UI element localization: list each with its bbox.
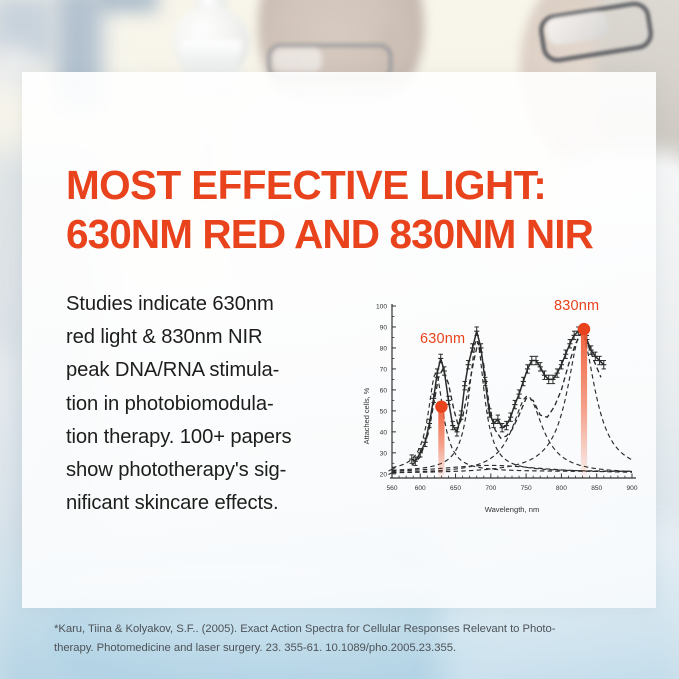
chart-x-tick-label: 650 — [450, 485, 461, 492]
annotation-label-830nm: 830nm — [554, 298, 599, 314]
annotation-stem-830nm — [581, 329, 587, 478]
chart-component-band — [392, 333, 632, 472]
body-paragraph: Studies indicate 630nm red light & 830nm… — [66, 288, 344, 520]
annotation-dot-630nm[interactable] — [435, 400, 447, 412]
page-title: MOST EFFECTIVE LIGHT: 630NM RED AND 830N… — [66, 161, 636, 259]
chart-y-tick-label: 100 — [376, 304, 387, 311]
infographic-poster: MOST EFFECTIVE LIGHT: 630NM RED AND 830N… — [0, 0, 679, 679]
body-line: tion therapy. 100+ papers — [66, 421, 344, 454]
chart-x-tick-label: 850 — [591, 485, 602, 492]
body-line: peak DNA/RNA stimula- — [66, 354, 344, 387]
chart-y-tick-label: 50 — [380, 408, 388, 415]
chart-svg: 2030405060708090100Attached cells, %5606… — [358, 292, 640, 522]
chart-y-tick-label: 70 — [380, 367, 388, 374]
annotation-label-630nm: 630nm — [420, 331, 465, 347]
background-equipment-c — [96, 0, 158, 12]
page-title-line-1: MOST EFFECTIVE LIGHT: — [66, 161, 636, 210]
chart-x-tick-label: 750 — [521, 485, 532, 492]
chart-x-tick-label: 800 — [556, 485, 567, 492]
page-title-line-2: 630NM RED AND 830NM NIR — [66, 210, 636, 259]
chart-y-tick-label: 90 — [380, 325, 388, 332]
annotation-stem-630nm — [438, 407, 444, 478]
chart-x-tick-label: 900 — [626, 485, 637, 492]
body-line: Studies indicate 630nm — [66, 288, 344, 321]
chart-component-band — [392, 373, 632, 471]
action-spectrum-chart: 2030405060708090100Attached cells, %5606… — [358, 292, 640, 522]
chart-y-tick-label: 80 — [380, 346, 388, 353]
chart-y-tick-label: 20 — [380, 471, 388, 478]
citation-footnote: *Karu, Tiina & Kolyakov, S.F.. (2005). E… — [54, 620, 636, 657]
citation-line-2: therapy. Photomedicine and laser surgery… — [54, 639, 636, 658]
chart-x-axis-label: Wavelength, nm — [485, 505, 540, 514]
chart-x-tick-label: 560 — [386, 485, 397, 492]
chart-y-tick-label: 40 — [380, 429, 388, 436]
chart-y-tick-label: 60 — [380, 388, 388, 395]
chart-x-tick-label: 700 — [485, 485, 496, 492]
body-line: tion in photobiomodula- — [66, 388, 344, 421]
body-line: show phototherapy's sig- — [66, 454, 344, 487]
chart-component-band — [392, 465, 632, 472]
chart-y-tick-label: 30 — [380, 450, 388, 457]
background-scientist-male-glasses-lens — [272, 48, 322, 72]
citation-line-1: *Karu, Tiina & Kolyakov, S.F.. (2005). E… — [54, 620, 636, 639]
chart-component-band — [392, 340, 632, 472]
chart-x-tick-label: 600 — [415, 485, 426, 492]
chart-y-axis-label: Attached cells, % — [362, 387, 371, 444]
body-line: red light & 830nm NIR — [66, 321, 344, 354]
body-line: nificant skincare effects. — [66, 487, 344, 520]
annotation-dot-830nm[interactable] — [578, 323, 590, 335]
